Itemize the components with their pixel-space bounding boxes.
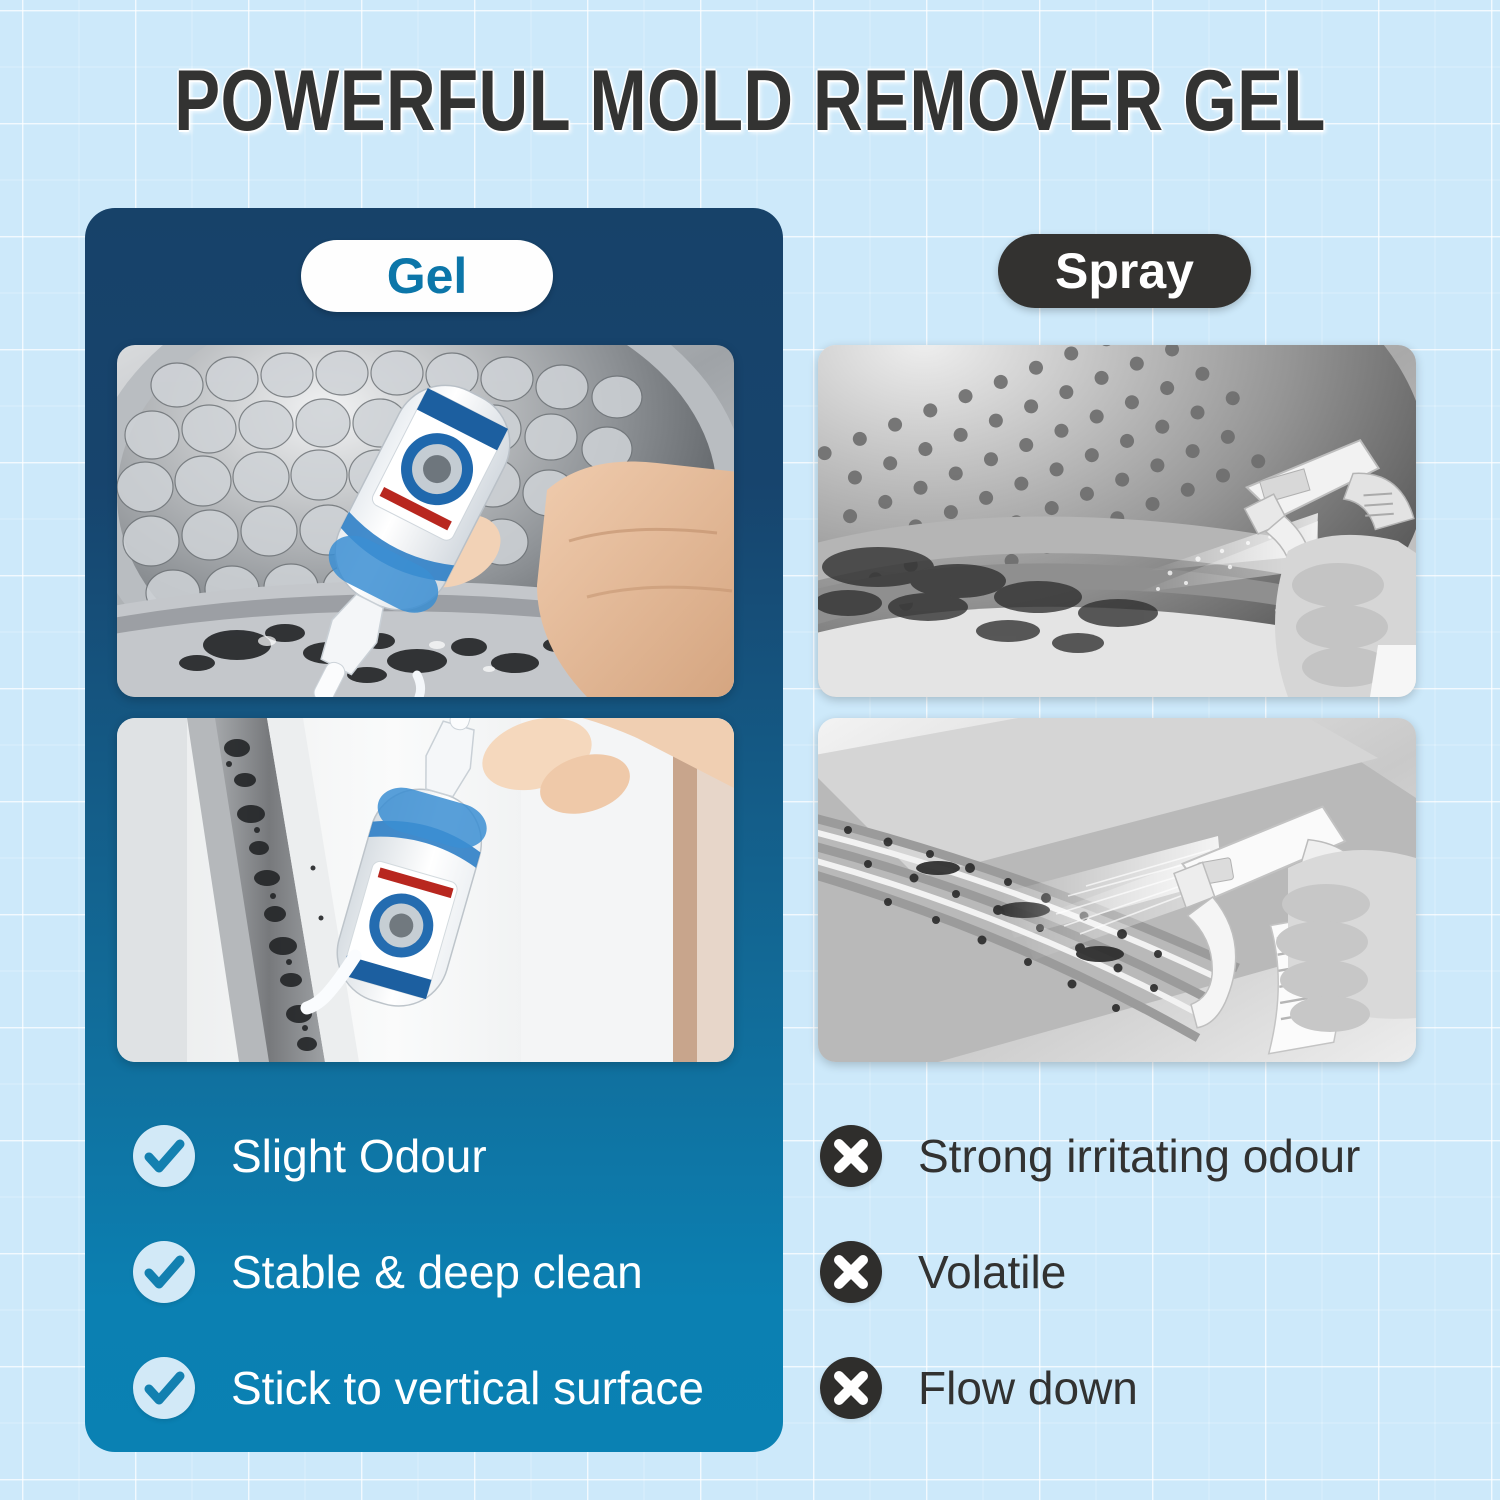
gel-photo-door-seal [117,718,734,1062]
spray-drum-illustration [818,345,1416,697]
cross-icon [820,1125,882,1187]
gel-badge: Gel [301,240,553,312]
list-item: Volatile [820,1214,1440,1330]
gel-badge-label: Gel [387,247,468,305]
gel-feature-label-1: Slight Odour [231,1129,487,1183]
spray-badge: Spray [998,234,1251,308]
check-icon [133,1357,195,1419]
gel-feature-list: Slight Odour Stable & deep clean Stick t… [133,1098,753,1446]
spray-feature-label-3: Flow down [918,1361,1138,1415]
list-item: Strong irritating odour [820,1098,1440,1214]
spray-feature-label-2: Volatile [918,1245,1066,1299]
spray-seal-illustration [818,718,1416,1062]
gel-feature-label-2: Stable & deep clean [231,1245,643,1299]
cross-icon [820,1241,882,1303]
list-item: Slight Odour [133,1098,753,1214]
spray-feature-list: Strong irritating odour Volatile Flow do… [820,1098,1440,1446]
gel-feature-label-3: Stick to vertical surface [231,1361,704,1415]
page-title: POWERFUL MOLD REMOVER GEL [150,50,1350,152]
spray-photo-drum [818,345,1416,697]
spray-badge-label: Spray [1055,242,1194,300]
gel-drum-illustration [117,345,734,697]
spray-photo-door-seal [818,718,1416,1062]
cross-icon [820,1357,882,1419]
list-item: Flow down [820,1330,1440,1446]
list-item: Stable & deep clean [133,1214,753,1330]
list-item: Stick to vertical surface [133,1330,753,1446]
check-icon [133,1241,195,1303]
product-comparison-infographic: POWERFUL MOLD REMOVER GEL Gel Spray [0,0,1500,1500]
gel-photo-drum [117,345,734,697]
check-icon [133,1125,195,1187]
spray-feature-label-1: Strong irritating odour [918,1129,1360,1183]
gel-seal-illustration [117,718,734,1062]
